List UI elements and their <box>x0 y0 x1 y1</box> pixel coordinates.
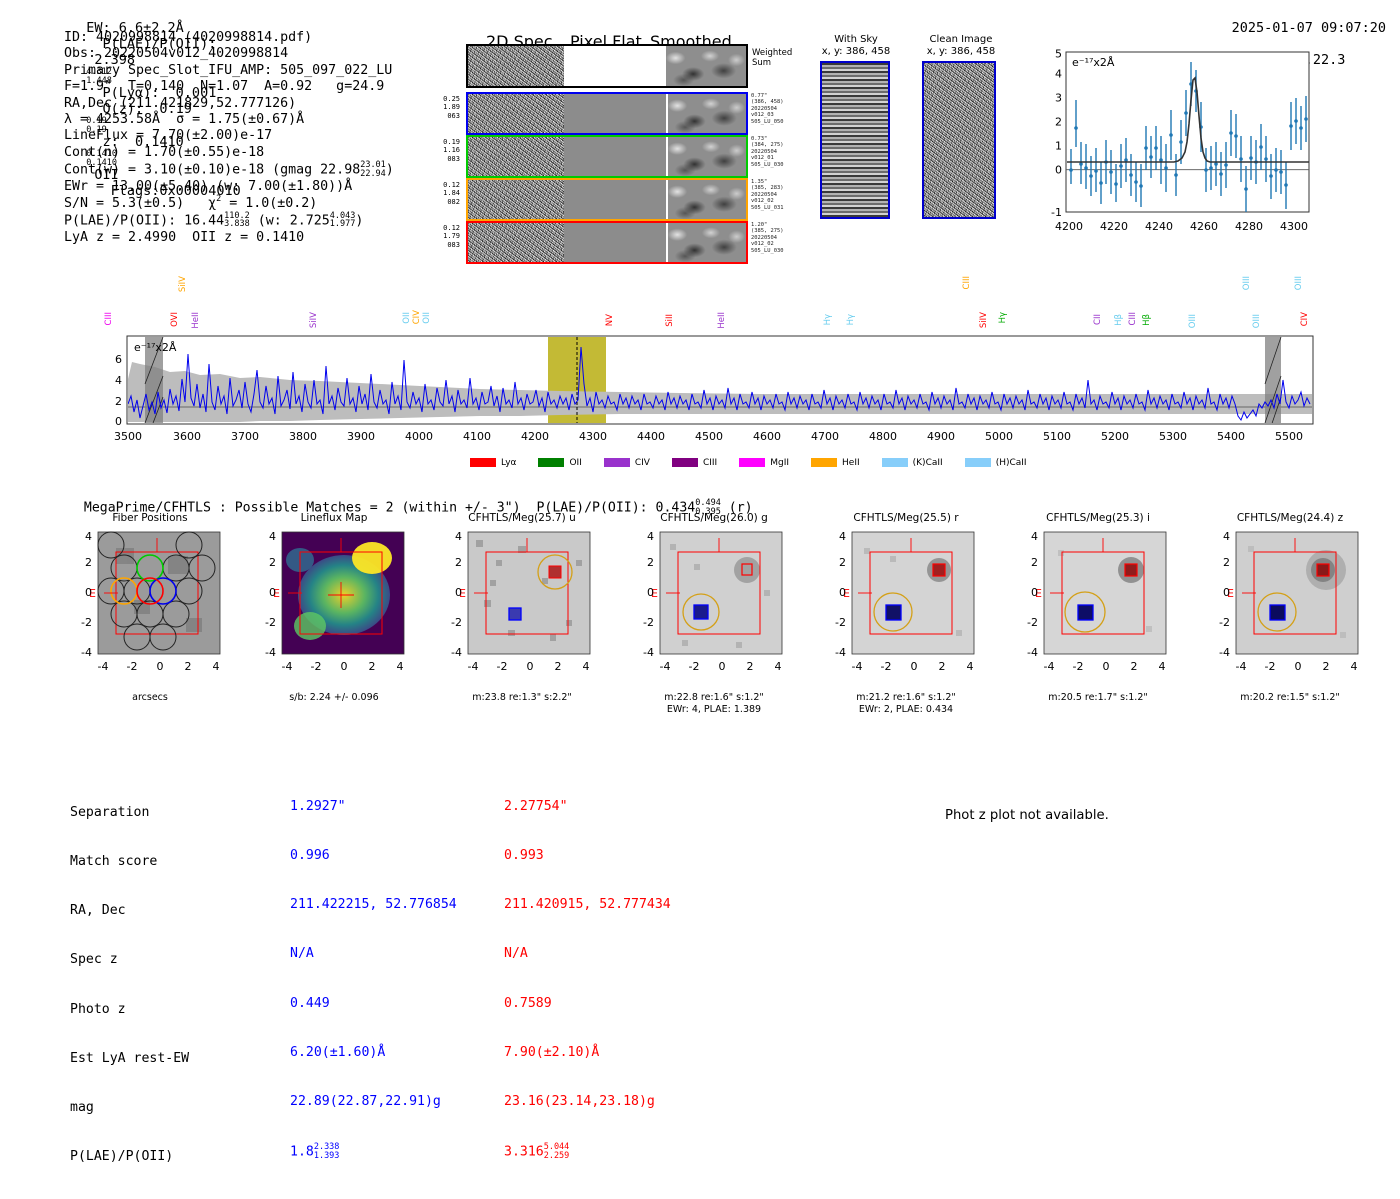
zoom-xtick: 4240 <box>1145 220 1173 233</box>
weighted-sum-label: Weighted Sum <box>752 48 792 68</box>
line-label-OVI: OVI <box>170 312 180 327</box>
table-cell-separation: 1.2927" <box>290 799 457 815</box>
cutout-xtick: 2 <box>185 660 192 673</box>
legend-swatch-hcaii <box>965 458 991 467</box>
cutout-ytick: 0 <box>455 586 462 599</box>
line-label-NV: NV <box>605 314 615 326</box>
compass-north: N <box>523 530 531 531</box>
fiber-row-right-label: 0.77" (386, 458) 20220504 v012_03 505_LU… <box>751 93 799 125</box>
fiber-row-left-label: 0.12 1.79 083 <box>434 224 460 249</box>
fiber-2dspec-image <box>468 223 564 262</box>
full-spec-ytick: 0 <box>115 415 122 428</box>
zoom-ytick: 5 <box>1055 48 1062 61</box>
cutout-title: CFHTLS/Meg(25.7) u <box>428 512 616 524</box>
cutout-xtick: -4 <box>98 660 109 673</box>
line-label-Hbeta-2: Hβ <box>1142 314 1152 326</box>
cutout-xtick: 4 <box>583 660 590 673</box>
cutout-panel-g: CFHTLS/Meg(26.0) g N E -4 -2 0 <box>620 512 808 524</box>
cutout-ytick: -2 <box>451 616 462 629</box>
cutout-xtick: 0 <box>157 660 164 673</box>
info-seeing: F=1.9" T=0.140 N=1.07 A=0.92 g=24.9 <box>64 79 394 95</box>
clean-image-image <box>922 61 996 219</box>
table-row-label: P(LAE)/P(OII) <box>70 1149 189 1165</box>
line-label-Hgamma: Hγ <box>823 314 833 325</box>
cutout-caption-2: EWr: 2, PLAE: 0.434 <box>820 704 992 716</box>
cutout-xtick: -2 <box>127 660 138 673</box>
table-cell-spec-z: N/A <box>504 946 671 962</box>
table-cell-est-ew: 6.20(±1.60)Å <box>290 1045 457 1061</box>
clean-image-xy: x, y: 386, 458 <box>922 46 1000 58</box>
cutout-caption-1: m:20.5 re:1.7" s:1.2" <box>1012 692 1184 704</box>
line-label-Hgamma-2: Hγ <box>846 314 856 325</box>
full-spec-xtick: 3900 <box>347 430 375 443</box>
source-marker-red-i <box>1125 564 1137 576</box>
cutout-ytick: -2 <box>1027 616 1038 629</box>
cutout-ytick: 0 <box>85 586 92 599</box>
full-spec-xtick: 3700 <box>231 430 259 443</box>
fiber-row-imagebox <box>466 92 748 135</box>
table-row-label: mag <box>70 1100 189 1116</box>
cutout-caption-1: s/b: 2.24 +/- 0.096 <box>260 692 408 704</box>
legend-swatch-kcaii <box>882 458 908 467</box>
cutout-xtick: 4 <box>213 660 220 673</box>
fiber-smoothed-image <box>668 137 746 176</box>
cutout-panel-r: CFHTLS/Meg(25.5) r N E -4 -2 0 2 <box>812 512 1000 524</box>
info-cont-narrow: Cont(n) = 1.70(±0.55)e-18 <box>64 145 394 161</box>
line-label-SiIV-2: SiIV <box>309 312 319 328</box>
table-row-label: Est LyA rest-EW <box>70 1051 189 1067</box>
cutout-xtick: -2 <box>311 660 322 673</box>
cutout-xtick: 2 <box>369 660 376 673</box>
cutout-ytick: 4 <box>839 530 846 543</box>
cutout-xtick: 2 <box>747 660 754 673</box>
cutout-xtick: 4 <box>1159 660 1166 673</box>
match-table-column-2: 2.27754" 0.993 211.420915, 52.777434 N/A… <box>504 766 671 1194</box>
cutout-ytick: -4 <box>835 646 846 659</box>
line-label-CIV: CIV <box>412 310 422 324</box>
twod-fiber-row: 0.19 1.16 083 0.73" (384, 275) 20220504 … <box>462 135 762 178</box>
table-row-label: Match score <box>70 854 189 870</box>
cutout-caption-1: arcsecs <box>76 692 224 704</box>
full-spec-units-label: e⁻¹⁷x2Å <box>134 341 177 354</box>
cutout-ytick: 0 <box>1223 586 1230 599</box>
legend-swatch-oii <box>538 458 564 467</box>
cutout-panel-fiber-positions: Fiber Positions N <box>60 512 240 524</box>
cutout-caption-1: m:22.8 re:1.6" s:1.2" <box>628 692 800 704</box>
line-label-SiIV: SiIV <box>178 276 188 292</box>
zoom-xtick: 4200 <box>1055 220 1083 233</box>
source-info-block: ID: 4020998814 (4020998814.pdf) Obs: 202… <box>64 30 394 246</box>
table-cell-photo-z: 0.449 <box>290 996 457 1012</box>
fiber-pixelflat-image <box>564 223 666 262</box>
cutout-ytick: -4 <box>451 646 462 659</box>
cutout-ytick: -4 <box>265 646 276 659</box>
zoom-ytick: 0 <box>1055 164 1062 177</box>
table-cell-radec: 211.422215, 52.776854 <box>290 897 457 913</box>
line-label-HeII: HeII <box>191 312 201 329</box>
legend-label-lya: Lyα <box>501 458 516 468</box>
galaxy-halo-g <box>734 557 760 583</box>
cutout-ytick: 2 <box>85 556 92 569</box>
table-cell-match-score: 0.993 <box>504 848 671 864</box>
cutout-xtick: 0 <box>911 660 918 673</box>
table-cell-separation: 2.27754" <box>504 799 671 815</box>
cutout-title: Fiber Positions <box>60 512 240 524</box>
cutout-ytick: 4 <box>85 530 92 543</box>
compass-north: N <box>1291 530 1299 531</box>
full-spec-ytick: 4 <box>115 374 122 387</box>
full-spectrum-section: CIII SiIV OVI HeII SiIV OII CIV OII NV S… <box>60 272 1320 472</box>
table-cell-photo-z: 0.7589 <box>504 996 671 1012</box>
cutout-xtick: -2 <box>497 660 508 673</box>
fiber-row-imagebox <box>466 135 748 178</box>
cutout-title: Lineflux Map <box>244 512 424 524</box>
cutout-xtick: -2 <box>689 660 700 673</box>
twod-fiber-row: 0.25 1.89 063 0.77" (386, 458) 20220504 … <box>462 92 762 135</box>
cutout-xtick: 2 <box>555 660 562 673</box>
cutout-caption-2: EWr: 4, PLAE: 1.389 <box>628 704 800 716</box>
cutout-xtick: 4 <box>775 660 782 673</box>
cutout-xtick: -4 <box>1044 660 1055 673</box>
full-spec-xtick: 3500 <box>114 430 142 443</box>
full-spec-xtick: 5000 <box>985 430 1013 443</box>
twod-spec-section: 2D Spec Pixel Flat Smoothed Weighted Sum… <box>462 32 762 76</box>
masked-region-red <box>1265 337 1281 423</box>
full-spec-xtick: 4900 <box>927 430 955 443</box>
legend-label-heii: HeII <box>842 458 860 468</box>
fiber-row-right-label: 0.73" (384, 275) 20220504 v012_01 505_LU… <box>751 136 799 168</box>
cutout-ytick: 2 <box>455 556 462 569</box>
full-spec-xtick: 4800 <box>869 430 897 443</box>
cutout-xtick: 0 <box>527 660 534 673</box>
full-spec-xtick: 4000 <box>405 430 433 443</box>
cutout-xtick: 0 <box>1295 660 1302 673</box>
legend-swatch-lya <box>470 458 496 467</box>
full-spec-xtick: 4200 <box>521 430 549 443</box>
table-row-label: Separation <box>70 805 189 821</box>
info-lambda-sigma: λ = 4253.58Å σ = 1.75(±0.67)Å <box>64 112 394 128</box>
line-label-HeII-2: HeII <box>717 312 727 329</box>
cutout-ytick: 0 <box>839 586 846 599</box>
compass-north: N <box>337 530 345 531</box>
cutout-title: CFHTLS/Meg(26.0) g <box>620 512 808 524</box>
cutout-ytick: -4 <box>1027 646 1038 659</box>
full-spec-xtick: 3800 <box>289 430 317 443</box>
twod-fiber-row: 0.12 1.84 082 1.35" (385, 283) 20220504 … <box>462 178 762 221</box>
line-label-Hbeta: Hβ <box>1114 314 1124 326</box>
cutout-ytick: 4 <box>1223 530 1230 543</box>
cutout-with-sky: With Sky x, y: 386, 458 <box>820 34 892 219</box>
zoom-spectrum-plot: -1 0 1 2 3 4 5 4200 4220 4240 4260 4280 … <box>1036 44 1316 256</box>
cutout-ytick: 0 <box>647 586 654 599</box>
zoom-xtick: 4260 <box>1190 220 1218 233</box>
source-marker-blue-u <box>509 608 521 620</box>
cutout-xtick: -2 <box>881 660 892 673</box>
cutout-xtick: -4 <box>1236 660 1247 673</box>
zoom-spectrum-svg: -1 0 1 2 3 4 5 4200 4220 4240 4260 4280 … <box>1036 44 1316 256</box>
table-cell-spec-z: N/A <box>290 946 457 962</box>
legend-label-ciii: CIII <box>703 458 717 468</box>
line-label-SiIV-3: SiIV <box>979 312 989 328</box>
lineflux-blob-ne <box>352 542 392 574</box>
compass-north: N <box>1099 530 1107 531</box>
cutout-ytick: 0 <box>1031 586 1038 599</box>
line-label-CIII-3: CIII <box>1128 312 1138 325</box>
info-obs: Obs: 20220504v012_4020998814 <box>64 46 394 62</box>
cutout-ytick: 0 <box>269 586 276 599</box>
line-label-SiII: SiII <box>665 314 675 327</box>
cutout-title: CFHTLS/Meg(25.5) r <box>812 512 1000 524</box>
fiber-2dspec-image <box>468 94 564 133</box>
info-plae: P(LAE)/P(OII): 16.44110.23.838 (w: 2.725… <box>64 212 394 230</box>
full-spec-xtick: 5100 <box>1043 430 1071 443</box>
cutout-ytick: -2 <box>265 616 276 629</box>
line-label-OIII-4: OIII <box>1294 276 1304 290</box>
legend-label-hcaii: (H)CaII <box>996 458 1027 468</box>
cutout-ytick: 4 <box>647 530 654 543</box>
line-label-OIII-3: OIII <box>1242 276 1252 290</box>
line-label-OII-2: OII <box>422 312 432 324</box>
weighted-sum-smoothed-image <box>666 46 746 86</box>
zoom-ytick: 4 <box>1055 68 1062 81</box>
cutout-panel-u: CFHTLS/Meg(25.7) u N E -4 -2 <box>428 512 616 524</box>
line-label-OII: OII <box>402 312 412 324</box>
cutout-ytick: 2 <box>1031 556 1038 569</box>
table-row-label: Photo z <box>70 1002 189 1018</box>
photz-plot-note: Phot z plot not available. <box>945 808 1109 823</box>
cutout-title: CFHTLS/Meg(25.3) i <box>1004 512 1192 524</box>
full-spec-ytick: 6 <box>115 353 122 366</box>
fiber-smoothed-image <box>668 180 746 219</box>
table-cell-radec: 211.420915, 52.777434 <box>504 897 671 913</box>
full-spec-xtick: 3600 <box>173 430 201 443</box>
source-marker-red-z <box>1317 564 1329 576</box>
full-spectrum-svg: 0 2 4 6 e⁻¹⁷x2Å 3500 3600 3700 3800 3900… <box>60 334 1320 449</box>
full-spec-xtick: 4500 <box>695 430 723 443</box>
fiber-row-imagebox <box>466 221 748 264</box>
table-row-label: RA, Dec <box>70 903 189 919</box>
full-spec-xtick: 4100 <box>463 430 491 443</box>
fiber-pixelflat-image <box>564 137 666 176</box>
spectrum-legend: LyαOIICIVCIIIMgIIHeII(K)CaII(H)CaII <box>470 452 1049 471</box>
cutout-ytick: -2 <box>643 616 654 629</box>
cutout-xtick: -4 <box>660 660 671 673</box>
cutout-ytick: 4 <box>269 530 276 543</box>
table-cell-plae: 3.3165.0442.259 <box>504 1143 671 1161</box>
line-label-OIII-2: OIII <box>1252 314 1262 328</box>
source-marker-blue-z <box>1270 605 1285 620</box>
cutout-ytick: 2 <box>839 556 846 569</box>
full-spec-xtick: 4400 <box>637 430 665 443</box>
cutout-caption-1: m:20.2 re:1.5" s:1.2" <box>1204 692 1376 704</box>
info-lineflux: LineFlux = 7.70(±2.00)e-17 <box>64 128 394 144</box>
compass-north: N <box>153 530 161 531</box>
fiber-pixelflat-image <box>564 94 666 133</box>
lineflux-blob-sw <box>294 612 326 640</box>
legend-swatch-heii <box>811 458 837 467</box>
cutout-xtick: -4 <box>852 660 863 673</box>
fiber-row-right-label: 1.20" (385, 275) 20220504 v012_02 505_LU… <box>751 222 799 254</box>
line-label-CIV-2: CIV <box>1300 312 1310 326</box>
imaging-cutout-row: Fiber Positions N <box>48 512 1368 722</box>
cutout-ytick: -2 <box>835 616 846 629</box>
cutout-ytick: 2 <box>269 556 276 569</box>
cutout-ytick: 2 <box>1223 556 1230 569</box>
emission-line-labels: CIII SiIV OVI HeII SiIV OII CIV OII NV S… <box>60 272 1320 340</box>
legend-swatch-mgii <box>739 458 765 467</box>
source-marker-red-r <box>933 564 945 576</box>
clean-image-title: Clean Image <box>922 34 1000 46</box>
match-table-row-labels: Separation Match score RA, Dec Spec z Ph… <box>70 772 189 1199</box>
cutout-ytick: 4 <box>455 530 462 543</box>
cutout-xtick: 0 <box>1103 660 1110 673</box>
full-spec-xtick: 5400 <box>1217 430 1245 443</box>
fiber-row-imagebox <box>466 178 748 221</box>
full-spec-ytick: 2 <box>115 395 122 408</box>
cutout-clean-image: Clean Image x, y: 386, 458 <box>922 34 1000 219</box>
legend-swatch-civ <box>604 458 630 467</box>
fiber-smoothed-image <box>668 223 746 262</box>
table-cell-est-ew: 7.90(±2.10)Å <box>504 1045 671 1061</box>
cutout-xtick: -2 <box>1265 660 1276 673</box>
legend-label-mgii: MgII <box>770 458 789 468</box>
cutout-panel-z: CFHTLS/Meg(24.4) z N E -4 -2 0 2 4 <box>1196 512 1384 524</box>
cutout-caption-1: m:21.2 re:1.6" s:1.2" <box>820 692 992 704</box>
info-ewr: EWr = 13.00(±5.40) (w: 7.00(±1.80))Å <box>64 179 394 195</box>
fiber-row-left-label: 0.12 1.84 082 <box>434 181 460 206</box>
cutout-caption-1: m:23.8 re:1.3" s:2.2" <box>440 692 604 704</box>
legend-label-kcaii: (K)CaII <box>913 458 943 468</box>
full-spec-xtick: 4600 <box>753 430 781 443</box>
cutout-ytick: 2 <box>647 556 654 569</box>
cutout-ytick: -4 <box>81 646 92 659</box>
zoom-ytick: 1 <box>1055 140 1062 153</box>
fiber-2dspec-image <box>468 180 564 219</box>
table-cell-mag: 23.16(23.14,23.18)g <box>504 1094 671 1110</box>
zoom-units-label: e⁻¹⁷x2Å <box>1072 56 1115 69</box>
twod-weighted-sum-row <box>466 44 748 88</box>
fiber-2dspec-image <box>468 137 564 176</box>
cutout-xtick: 0 <box>719 660 726 673</box>
weighted-sum-pixelflat-image <box>564 46 666 86</box>
fiber-smoothed-image <box>668 94 746 133</box>
cutout-xtick: -4 <box>468 660 479 673</box>
full-spec-xtick: 5300 <box>1159 430 1187 443</box>
cutout-panel-lineflux-map: Lineflux Map N E -4 -2 <box>244 512 424 524</box>
line-label-CIII-2: CIII <box>962 276 972 289</box>
match-table-column-1: 1.2927" 0.996 211.422215, 52.776854 N/A … <box>290 766 457 1194</box>
info-radec: RA,Dec (211.421829,52.777126) <box>64 96 394 112</box>
info-cont-wide: Cont(w) = 3.10(±0.10)e-18 (gmag 22.9823.… <box>64 161 394 179</box>
full-spec-xtick: 4700 <box>811 430 839 443</box>
header-timestamp: 2025-01-07 09:07:20 <box>1232 20 1386 36</box>
compass-north: N <box>715 530 723 531</box>
zoom-ytick: 3 <box>1055 92 1062 105</box>
twod-fiber-row: 0.12 1.79 083 1.20" (385, 275) 20220504 … <box>462 221 762 264</box>
full-spec-xtick: 5200 <box>1101 430 1129 443</box>
table-cell-plae: 1.82.3381.393 <box>290 1143 457 1161</box>
full-spec-xtick: 4300 <box>579 430 607 443</box>
zoom-xtick: 4300 <box>1280 220 1308 233</box>
table-row-label: Spec z <box>70 952 189 968</box>
cutout-title: CFHTLS/Meg(24.4) z <box>1196 512 1384 524</box>
cutout-xtick: -4 <box>282 660 293 673</box>
zoom-xtick: 4280 <box>1235 220 1263 233</box>
zoom-xtick: 4220 <box>1100 220 1128 233</box>
info-redshifts: LyA z = 2.4990 OII z = 0.1410 <box>64 230 394 246</box>
line-label-CII: CII <box>1093 314 1103 325</box>
cutout-xtick: 0 <box>341 660 348 673</box>
cutout-ytick: 4 <box>1031 530 1038 543</box>
weighted-sum-2dspec-image <box>468 46 564 86</box>
line-label-CIII: CIII <box>104 312 114 325</box>
zoom-ytick: -1 <box>1051 206 1062 219</box>
source-marker-blue-r <box>886 605 901 620</box>
cutout-xtick: -2 <box>1073 660 1084 673</box>
legend-label-civ: CIV <box>635 458 650 468</box>
zoom-ytick: 2 <box>1055 116 1062 129</box>
cutout-xtick: 2 <box>1131 660 1138 673</box>
source-marker-blue-i <box>1078 605 1093 620</box>
source-marker-blue-g <box>694 605 708 619</box>
cutout-xtick: 4 <box>1351 660 1358 673</box>
info-primary-slot: Primary Spec_Slot_IFU_AMP: 505_097_022_L… <box>64 63 394 79</box>
cutout-ytick: -2 <box>81 616 92 629</box>
info-snr-chi2: S/N = 5.3(±0.5) χ2 = 1.0(±0.2) <box>64 196 394 212</box>
fiber-pixelflat-image <box>564 180 666 219</box>
compass-north: N <box>907 530 915 531</box>
line-label-Hgamma-3: Hγ <box>998 312 1008 323</box>
source-marker-red-u <box>549 566 561 578</box>
cutout-xtick: 2 <box>1323 660 1330 673</box>
legend-swatch-ciii <box>672 458 698 467</box>
with-sky-title: With Sky <box>820 34 892 46</box>
cutout-xtick: 4 <box>967 660 974 673</box>
with-sky-xy: x, y: 386, 458 <box>820 46 892 58</box>
table-cell-match-score: 0.996 <box>290 848 457 864</box>
with-sky-image <box>820 61 890 219</box>
fiber-row-left-label: 0.25 1.89 063 <box>434 95 460 120</box>
cutout-xtick: 4 <box>397 660 404 673</box>
cutout-ytick: -4 <box>1219 646 1230 659</box>
info-id: ID: 4020998814 (4020998814.pdf) <box>64 30 394 46</box>
fiber-row-right-label: 1.35" (385, 283) 20220504 v012_02 505_LU… <box>751 179 799 211</box>
line-label-OIII: OIII <box>1188 314 1198 328</box>
cutout-ytick: -2 <box>1219 616 1230 629</box>
fiber-row-left-label: 0.19 1.16 083 <box>434 138 460 163</box>
cutout-panel-i: CFHTLS/Meg(25.3) i N E -4 -2 0 2 4 <box>1004 512 1192 524</box>
cutout-ytick: -4 <box>643 646 654 659</box>
full-spec-xtick: 5500 <box>1275 430 1303 443</box>
legend-label-oii: OII <box>569 458 581 468</box>
table-cell-mag: 22.89(22.87,22.91)g <box>290 1094 457 1110</box>
cutout-xtick: 2 <box>939 660 946 673</box>
